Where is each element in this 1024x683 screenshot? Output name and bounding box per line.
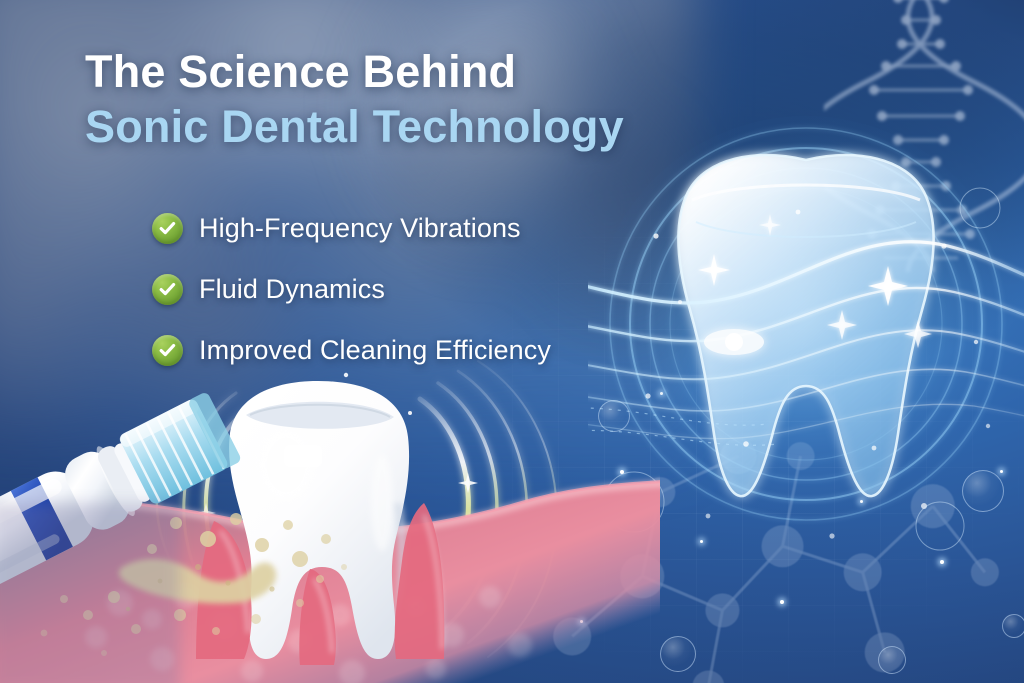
check-circle-icon bbox=[152, 274, 183, 305]
headline-line-1: The Science Behind bbox=[85, 48, 624, 96]
headline-block: The Science Behind Sonic Dental Technolo… bbox=[85, 48, 624, 152]
poster-canvas: The Science Behind Sonic Dental Technolo… bbox=[0, 0, 1024, 683]
list-item-label: Improved Cleaning Efficiency bbox=[199, 335, 551, 366]
list-item-label: High-Frequency Vibrations bbox=[199, 213, 521, 244]
headline-line-2: Sonic Dental Technology bbox=[85, 102, 624, 152]
feature-list: High-Frequency Vibrations Fluid Dynamics… bbox=[152, 208, 551, 391]
list-item: Fluid Dynamics bbox=[152, 269, 551, 309]
brushing-illustration bbox=[0, 353, 660, 683]
list-item: High-Frequency Vibrations bbox=[152, 208, 551, 248]
check-circle-icon bbox=[152, 335, 183, 366]
list-item-label: Fluid Dynamics bbox=[199, 274, 385, 305]
list-item: Improved Cleaning Efficiency bbox=[152, 330, 551, 370]
bubble-icon bbox=[1002, 614, 1024, 638]
check-circle-icon bbox=[152, 213, 183, 244]
